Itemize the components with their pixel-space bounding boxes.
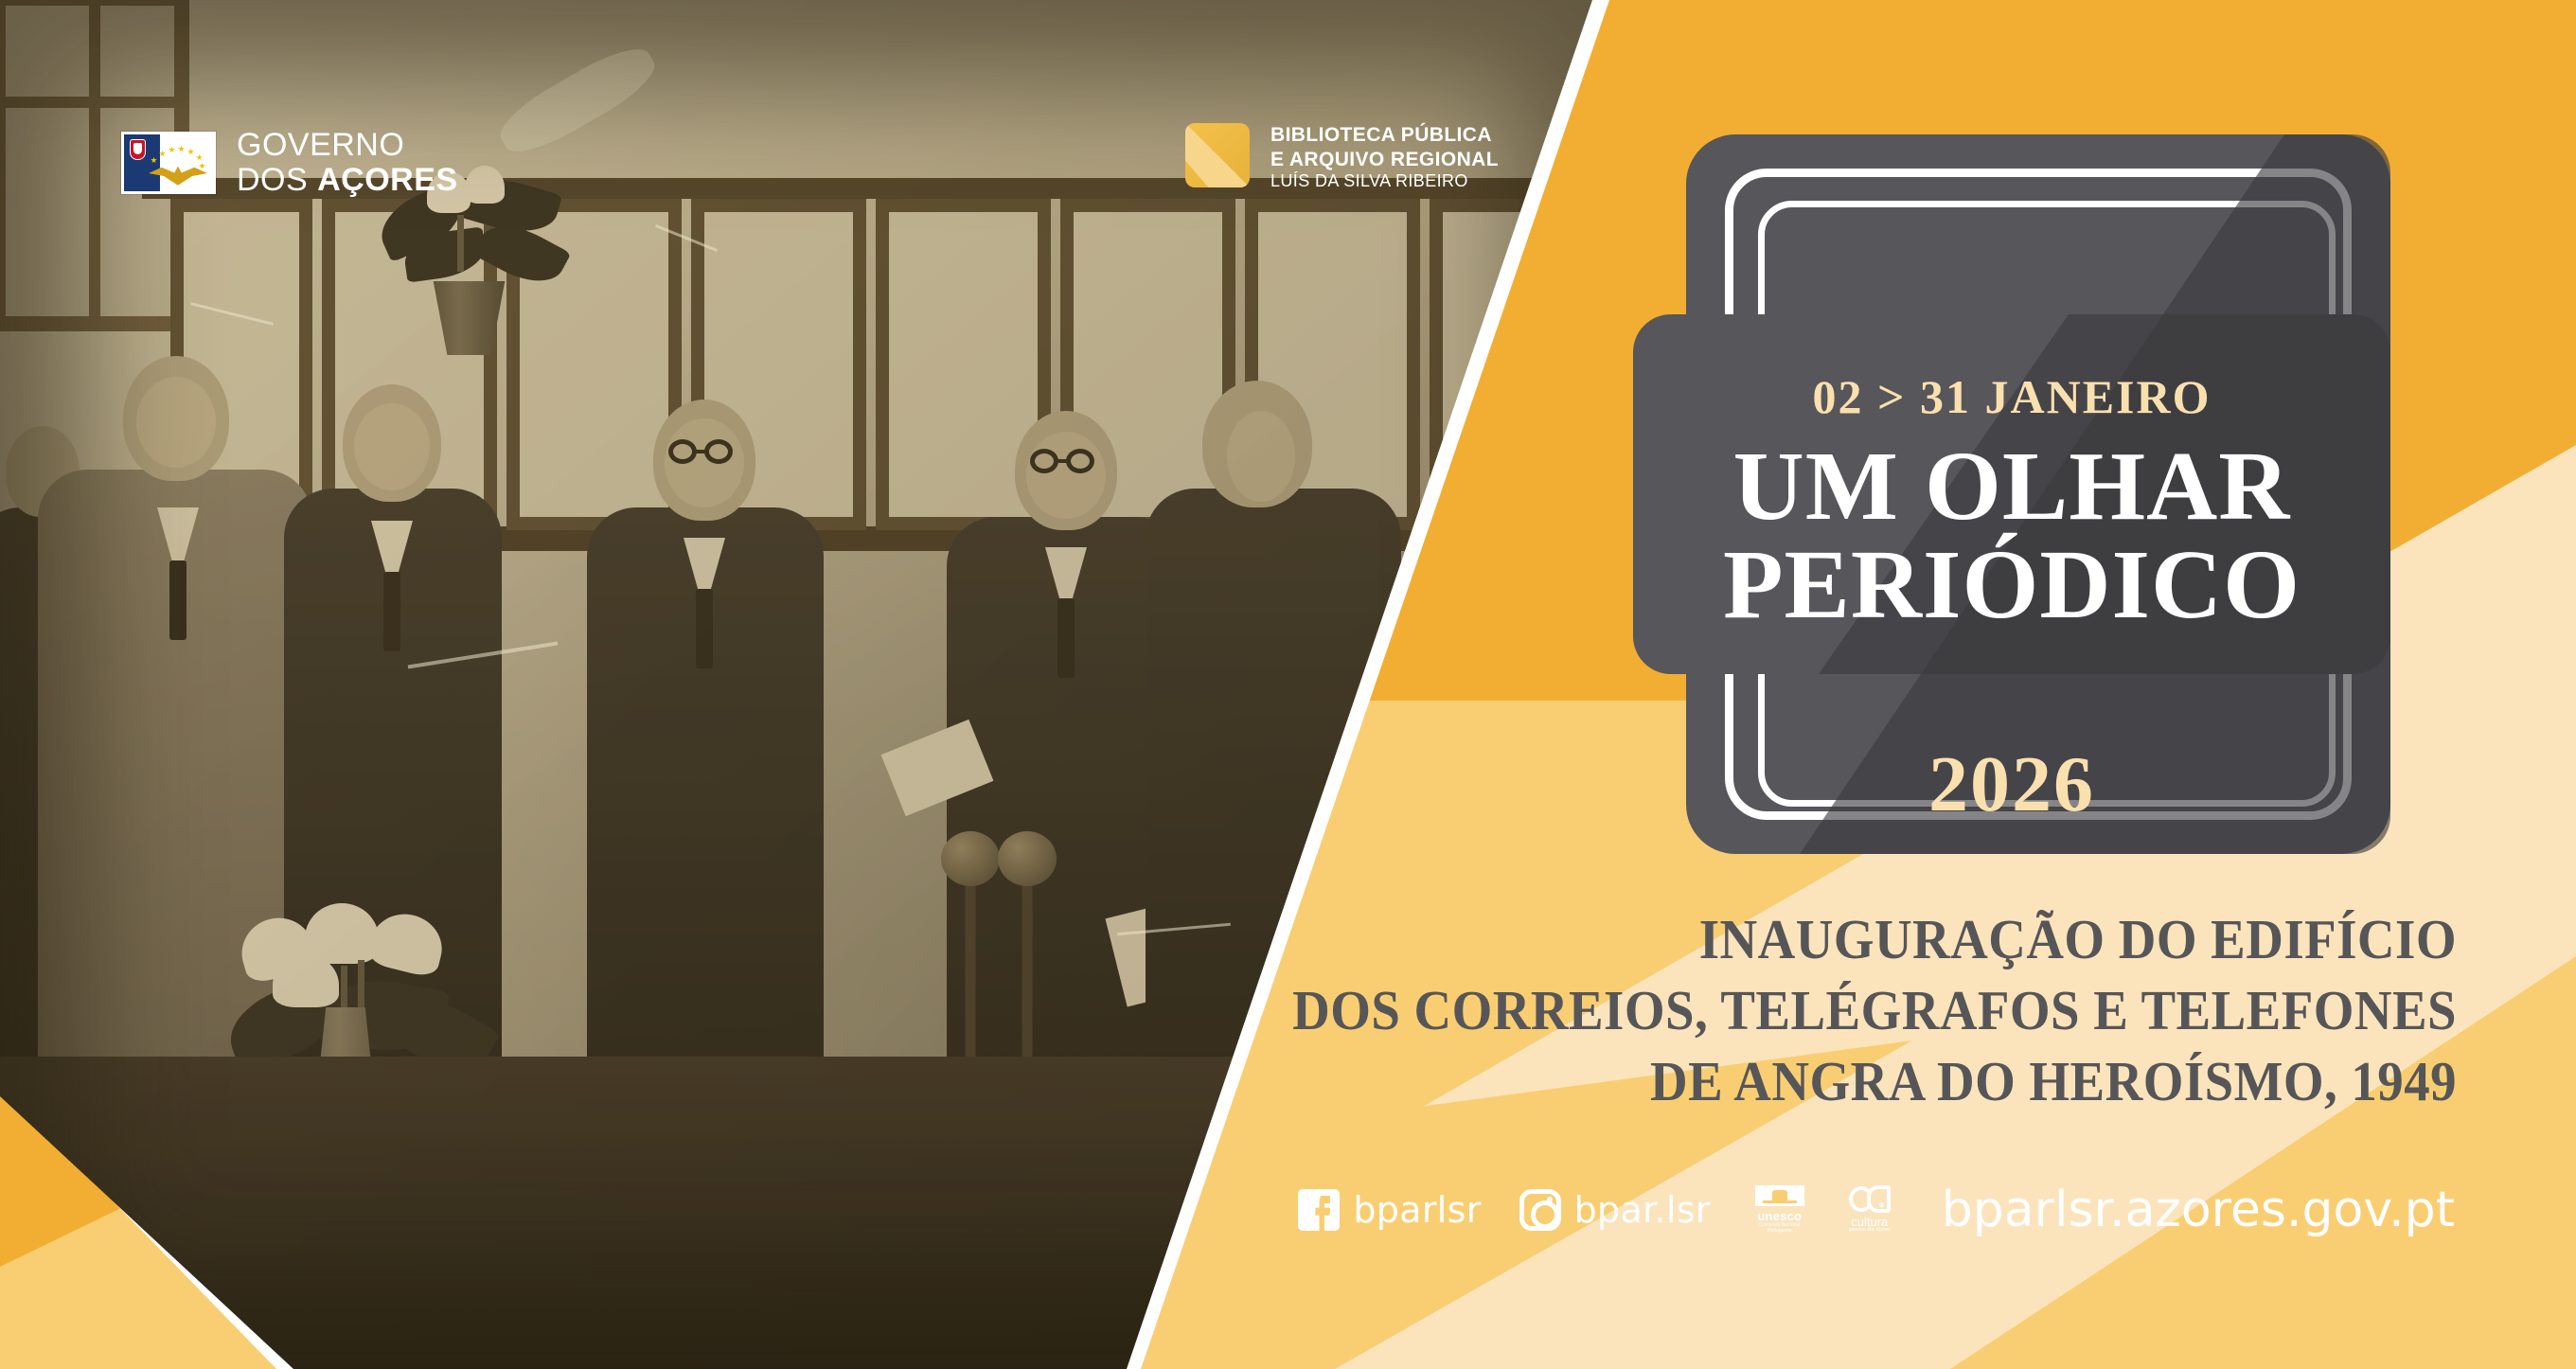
folded-page-icon <box>1185 123 1250 187</box>
instagram-link[interactable]: bpar.lsr <box>1519 1189 1711 1231</box>
website-url[interactable]: bparlsr.azores.gov.pt <box>1942 1182 2455 1238</box>
cultura-ca-icon <box>1849 1185 1891 1214</box>
exhibition-subtitle: INAUGURAÇÃO DO EDIFÍCIO DOS CORREIOS, TE… <box>1154 904 2457 1117</box>
gov-logo-line2-light: DOS <box>237 162 317 198</box>
unesco-subtitle: Comissão Nacional Portuguesa <box>1752 1222 1807 1235</box>
facebook-link[interactable]: bparlsr <box>1298 1189 1481 1231</box>
governo-acores-logo: GOVERNO DOS AÇORES <box>121 128 458 197</box>
instagram-icon[interactable] <box>1519 1189 1561 1231</box>
badge-year: 2026 <box>1633 738 2390 830</box>
cultura-logo: cultura governo dos açores <box>1843 1185 1896 1235</box>
azores-flag-icon <box>121 132 216 194</box>
library-logo-line3: LUÍS DA SILVA RIBEIRO <box>1270 171 1499 192</box>
badge-title: UM OLHAR PERIÓDICO <box>1633 437 2390 634</box>
library-logo-line2: E ARQUIVO REGIONAL <box>1270 148 1499 172</box>
badge-date-range: 02 > 31 JANEIRO <box>1633 369 2390 424</box>
footer-bar: bparlsr bpar.lsr unesco Comissão Naciona… <box>1298 1182 2455 1238</box>
badge-title-line1: UM OLHAR <box>1633 437 2390 536</box>
biblioteca-publica-logo: BIBLIOTECA PÚBLICA E ARQUIVO REGIONAL LU… <box>1185 123 1499 192</box>
event-badge: 02 > 31 JANEIRO UM OLHAR PERIÓDICO 2026 <box>1633 134 2390 854</box>
instagram-handle: bpar.lsr <box>1574 1189 1711 1231</box>
gov-logo-line1: GOVERNO <box>237 128 458 163</box>
facebook-handle: bparlsr <box>1353 1189 1481 1231</box>
library-logo-line1: BIBLIOTECA PÚBLICA <box>1270 123 1499 148</box>
unesco-temple-icon <box>1755 1185 1804 1206</box>
unesco-name: unesco <box>1752 1209 1807 1223</box>
unesco-subtitle-line2: Portuguesa <box>1752 1228 1807 1234</box>
cultura-subtitle: governo dos açores <box>1843 1227 1896 1233</box>
subtitle-line1: INAUGURAÇÃO DO EDIFÍCIO <box>1154 904 2457 975</box>
subtitle-line2: DOS CORREIOS, TELÉGRAFOS E TELEFONES <box>1154 975 2457 1046</box>
badge-title-line2: PERIÓDICO <box>1633 536 2390 634</box>
facebook-icon[interactable] <box>1298 1189 1340 1231</box>
subtitle-line3: DE ANGRA DO HEROÍSMO, 1949 <box>1154 1046 2457 1117</box>
gov-logo-line2-bold: AÇORES <box>317 162 457 198</box>
poster-root: GOVERNO DOS AÇORES BIBLIOTECA PÚBLICA E … <box>0 0 2576 1369</box>
unesco-logo: unesco Comissão Nacional Portuguesa <box>1752 1185 1807 1235</box>
gov-logo-line2: DOS AÇORES <box>237 163 458 198</box>
